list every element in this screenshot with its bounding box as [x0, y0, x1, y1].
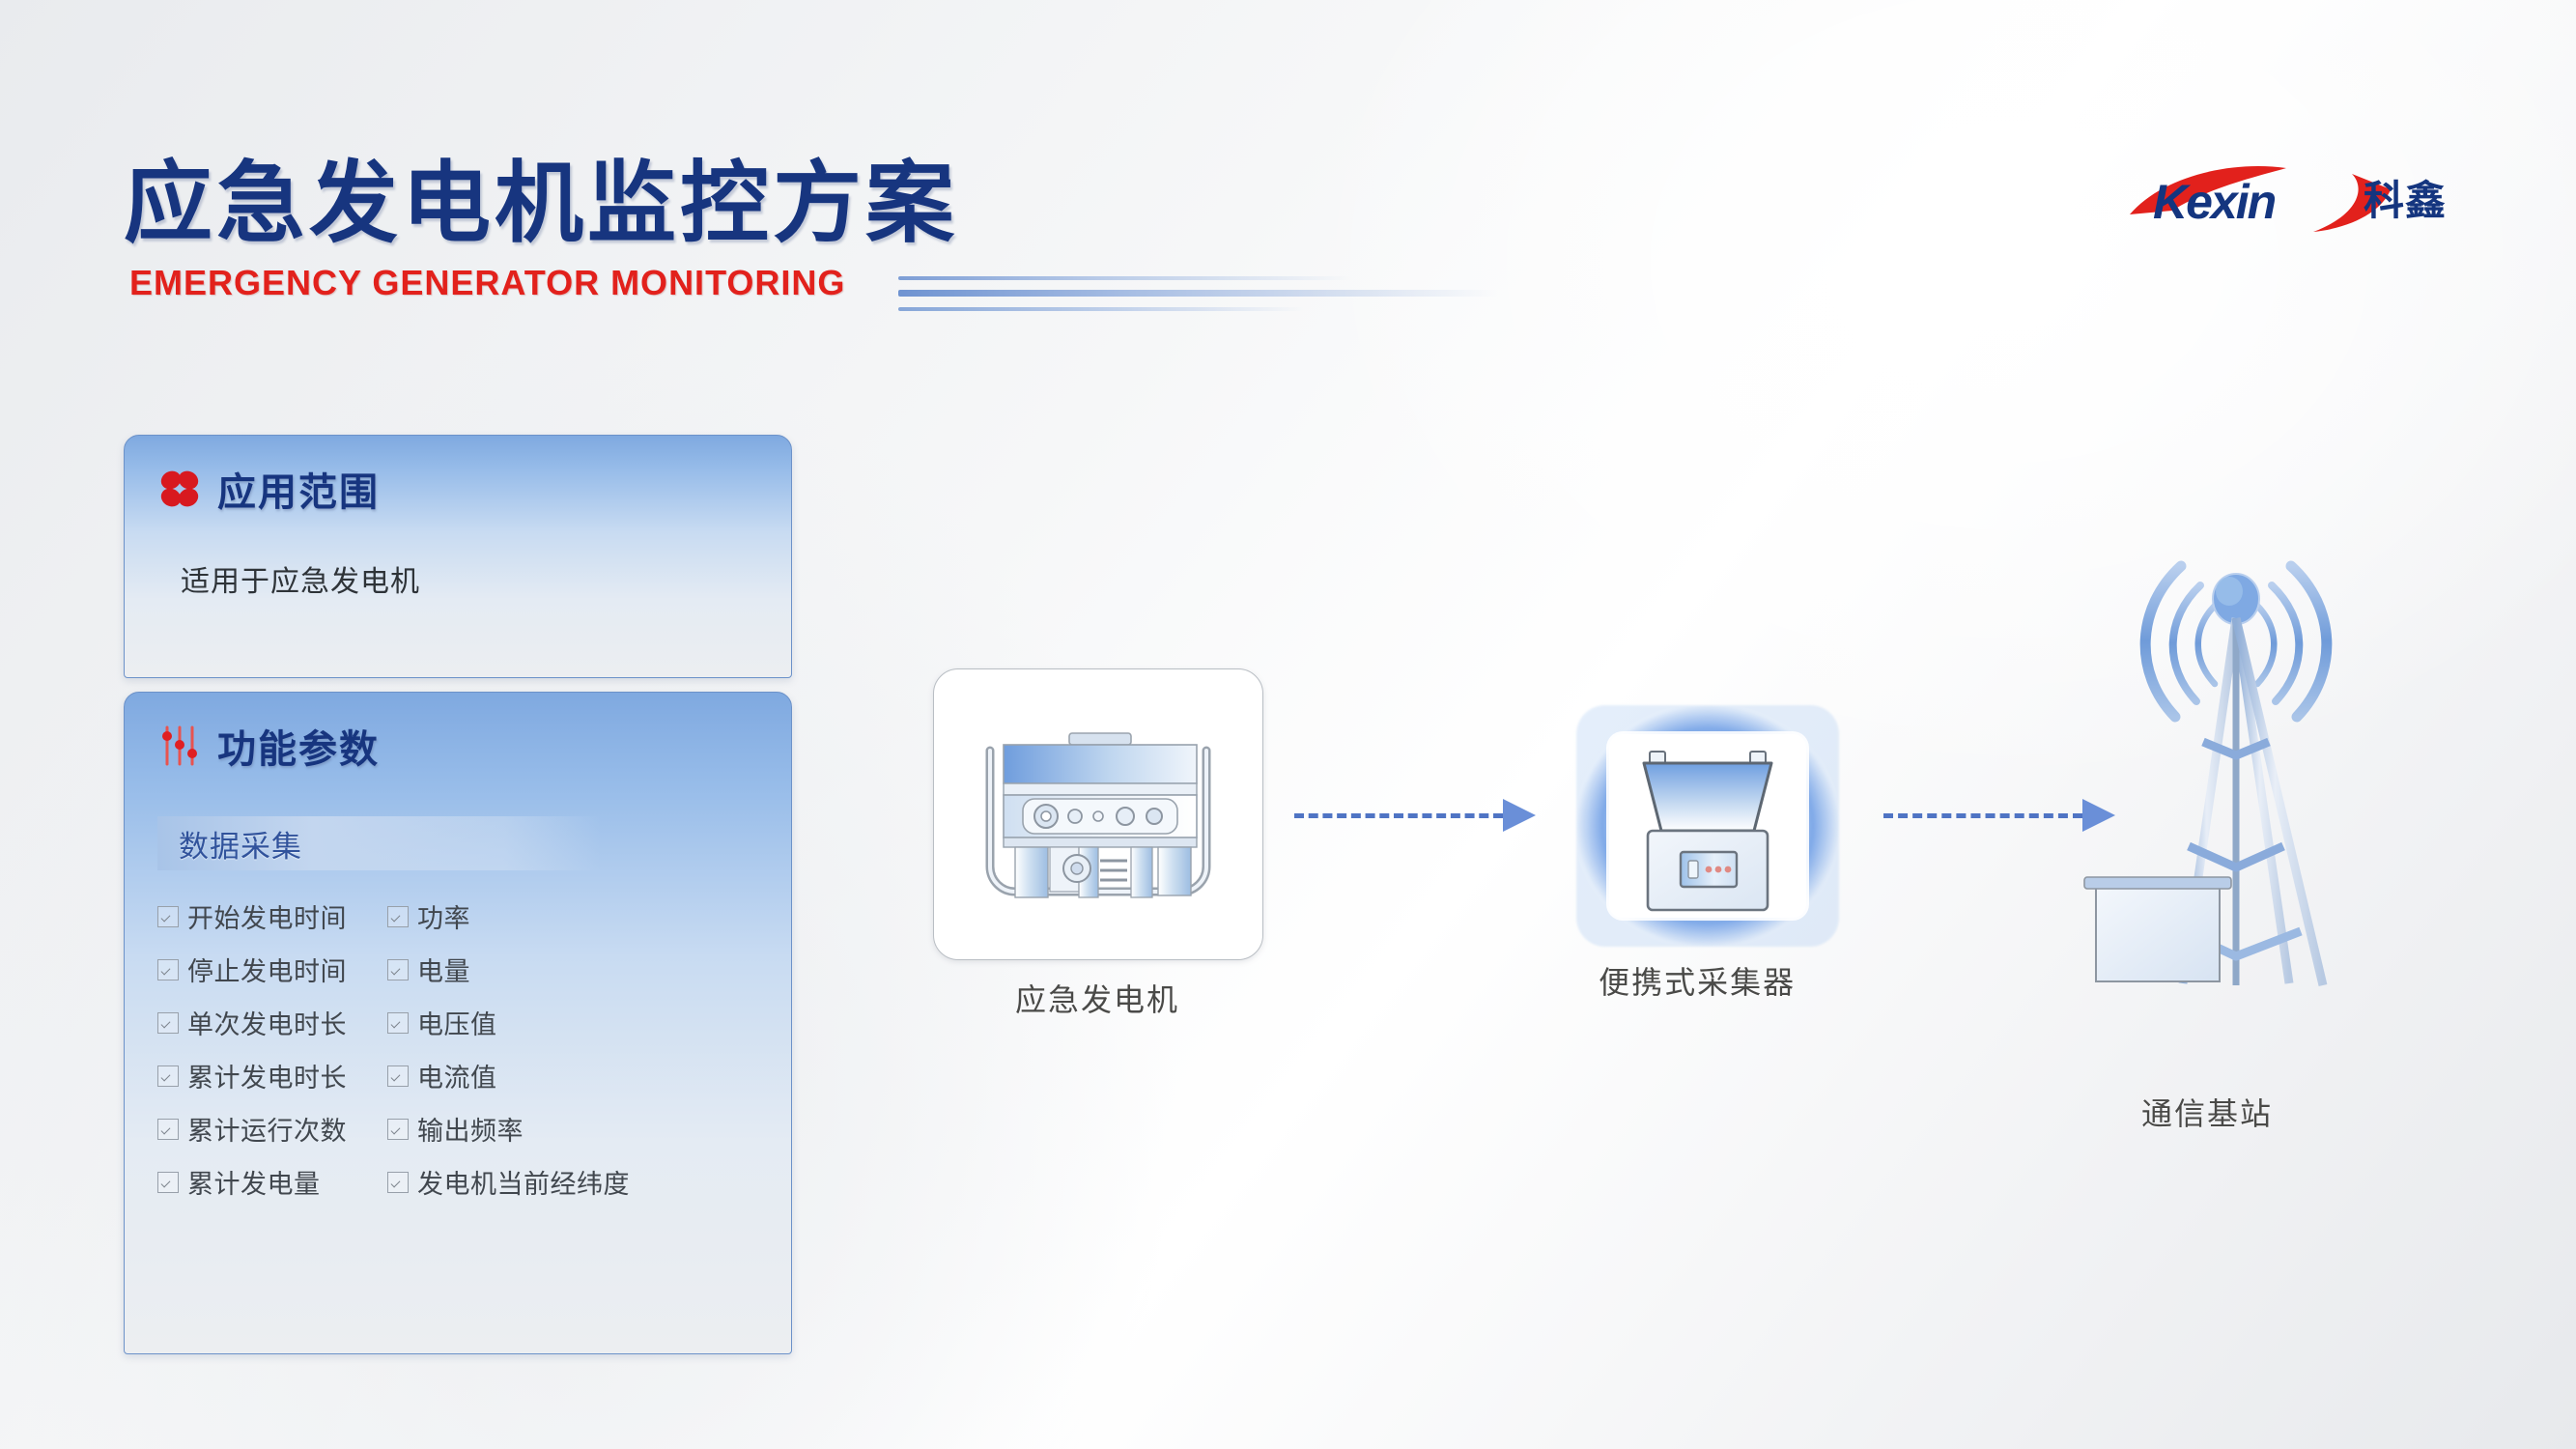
checklist-item[interactable]: 输出频率 [387, 1110, 791, 1148]
sliders-icon [157, 724, 202, 768]
card-function-parameters: 功能参数 数据采集 开始发电时间 功率 停止发电时间 电量 单次发电时长 电压值… [124, 692, 792, 1354]
node-collector-label: 便携式采集器 [1599, 958, 1796, 1003]
node-base-station-label: 通信基站 [2141, 1090, 2273, 1134]
checkbox-icon[interactable] [387, 1172, 409, 1193]
params-checklist: 开始发电时间 功率 停止发电时间 电量 单次发电时长 电压值 累计发电时长 电流… [157, 897, 791, 1201]
checklist-item[interactable]: 发电机当前经纬度 [387, 1163, 791, 1201]
checklist-label: 开始发电时间 [187, 897, 347, 935]
checklist-item[interactable]: 停止发电时间 [157, 951, 387, 988]
checklist-label: 输出频率 [417, 1110, 524, 1148]
header-decorative-lines [898, 272, 1497, 319]
node-generator-label: 应急发电机 [1015, 976, 1179, 1020]
base-station-illustration [2077, 502, 2366, 1063]
checkbox-icon[interactable] [387, 959, 409, 980]
checklist-item[interactable]: 电流值 [387, 1057, 791, 1094]
clover-icon [157, 467, 202, 511]
card-scope-title: 应用范围 [217, 461, 380, 517]
checkbox-icon[interactable] [157, 906, 179, 927]
checklist-label: 电量 [417, 951, 470, 988]
checkbox-icon[interactable] [157, 1065, 179, 1087]
arrow-head-icon [1503, 799, 1536, 832]
arrow-generator-to-collector [1294, 799, 1536, 832]
generator-card [933, 668, 1263, 960]
checklist-item[interactable]: 电压值 [387, 1004, 791, 1041]
checklist-item[interactable]: 累计运行次数 [157, 1110, 387, 1148]
card-application-scope: 应用范围 适用于应急发电机 [124, 435, 792, 678]
checklist-label: 累计发电时长 [187, 1057, 347, 1094]
checkbox-icon[interactable] [387, 1119, 409, 1140]
checkbox-icon[interactable] [387, 906, 409, 927]
node-generator: 应急发电机 [933, 668, 1261, 1036]
checklist-item[interactable]: 开始发电时间 [157, 897, 387, 935]
svg-text:科鑫: 科鑫 [2364, 177, 2447, 224]
checkbox-icon[interactable] [387, 1012, 409, 1034]
checklist-label: 停止发电时间 [187, 951, 347, 988]
params-subsection-header: 数据采集 [157, 816, 602, 870]
card-scope-body: 适用于应急发电机 [125, 517, 791, 600]
slide-root: 应急发电机监控方案 EMERGENCY GENERATOR MONITORING… [0, 0, 2576, 1449]
checklist-label: 累计运行次数 [187, 1110, 347, 1148]
node-base-station: 通信基站 [2077, 502, 2366, 1140]
page-subtitle: EMERGENCY GENERATOR MONITORING [129, 263, 845, 303]
checklist-item[interactable]: 累计发电时长 [157, 1057, 387, 1094]
svg-text:Kexin: Kexin [2153, 175, 2276, 229]
card-params-header: 功能参数 [125, 693, 791, 774]
page-title: 应急发电机监控方案 [124, 131, 958, 260]
checklist-label: 电流值 [417, 1057, 497, 1094]
node-collector: 便携式采集器 [1576, 705, 1839, 1024]
card-scope-header: 应用范围 [125, 436, 791, 517]
brand-logo: Kexin 科鑫 [2124, 155, 2452, 243]
checklist-item[interactable]: 单次发电时长 [157, 1004, 387, 1041]
params-subsection-label: 数据采集 [157, 822, 302, 866]
checklist-label: 累计发电量 [187, 1163, 321, 1201]
checklist-item[interactable]: 累计发电量 [157, 1163, 387, 1201]
checklist-item[interactable]: 功率 [387, 897, 791, 935]
collector-card [1609, 734, 1806, 918]
checklist-label: 单次发电时长 [187, 1004, 347, 1041]
checkbox-icon[interactable] [157, 959, 179, 980]
checklist-label: 发电机当前经纬度 [417, 1163, 630, 1201]
checklist-label: 功率 [417, 897, 470, 935]
checkbox-icon[interactable] [157, 1119, 179, 1140]
checkbox-icon[interactable] [387, 1065, 409, 1087]
checkbox-icon[interactable] [157, 1172, 179, 1193]
checklist-item[interactable]: 电量 [387, 951, 791, 988]
card-params-title: 功能参数 [217, 718, 380, 774]
checklist-label: 电压值 [417, 1004, 497, 1041]
checkbox-icon[interactable] [157, 1012, 179, 1034]
